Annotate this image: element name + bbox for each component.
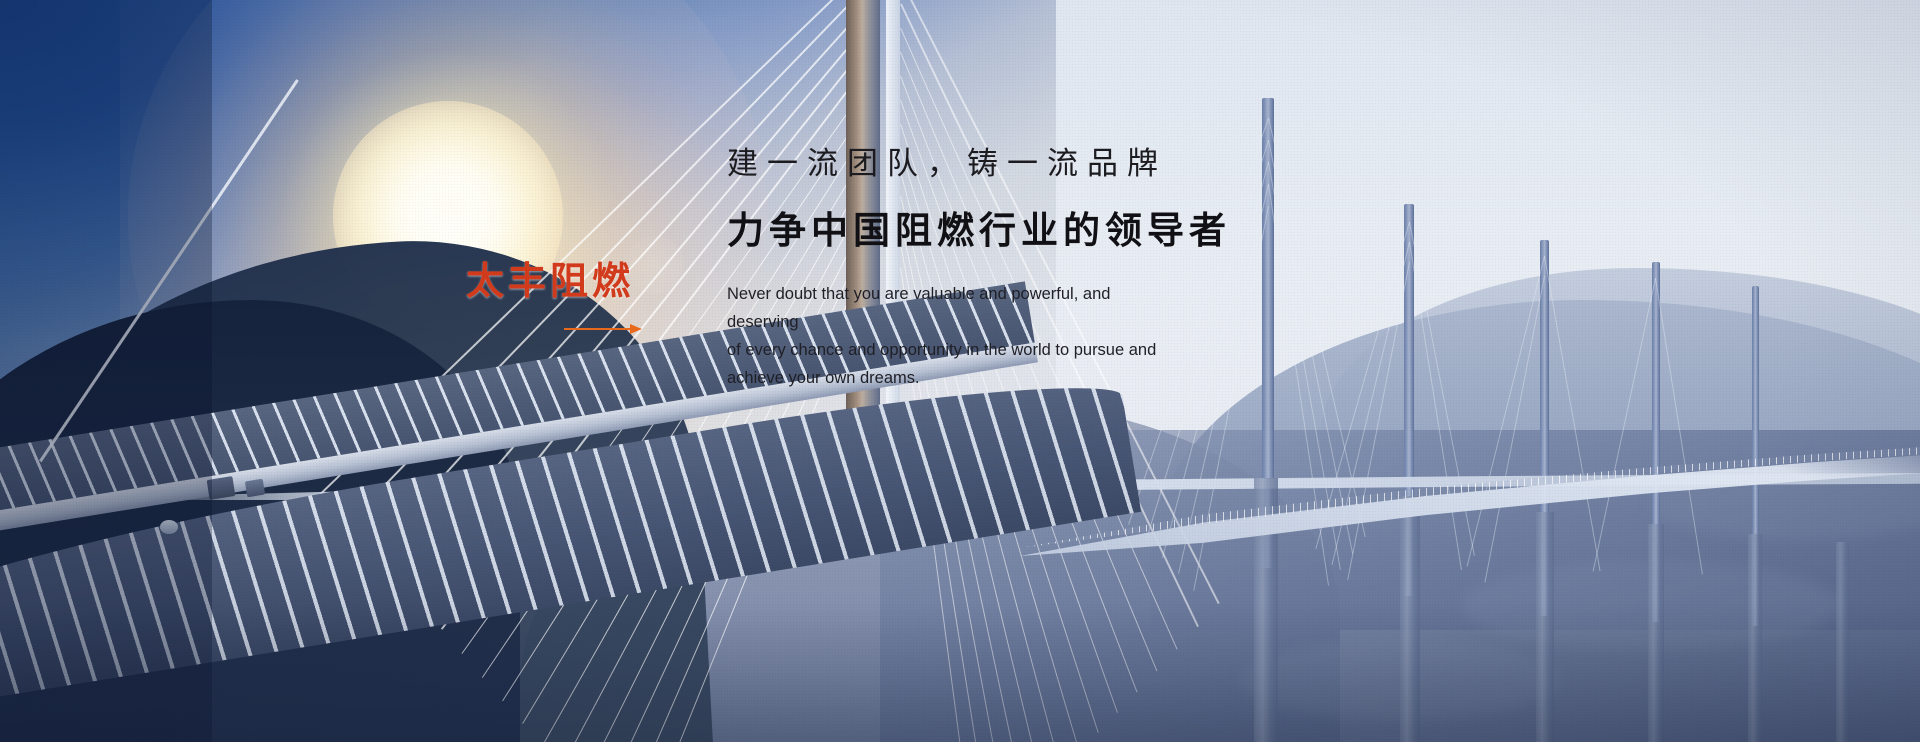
brand-logo[interactable]: 太丰阻燃 [466,262,666,334]
headline-secondary: 力争中国阻燃行业的领导者 [727,212,1487,249]
brand-logo-text: 太丰阻燃 [466,262,666,300]
headline-primary: 建一流团队，铸一流品牌 [727,148,1487,179]
hero-banner: 太丰阻燃 建一流团队，铸一流品牌 力争中国阻燃行业的领导者 Never doub… [0,0,1920,742]
banner-text-block: 建一流团队，铸一流品牌 力争中国阻燃行业的领导者 Never doubt tha… [727,148,1487,392]
arrow-head [630,324,642,334]
arrow-right-icon [564,324,642,334]
arrow-shaft [564,328,636,330]
banner-subcopy: Never doubt that you are valuable and po… [727,280,1179,392]
banner-content: 太丰阻燃 建一流团队，铸一流品牌 力争中国阻燃行业的领导者 Never doub… [0,0,1920,742]
